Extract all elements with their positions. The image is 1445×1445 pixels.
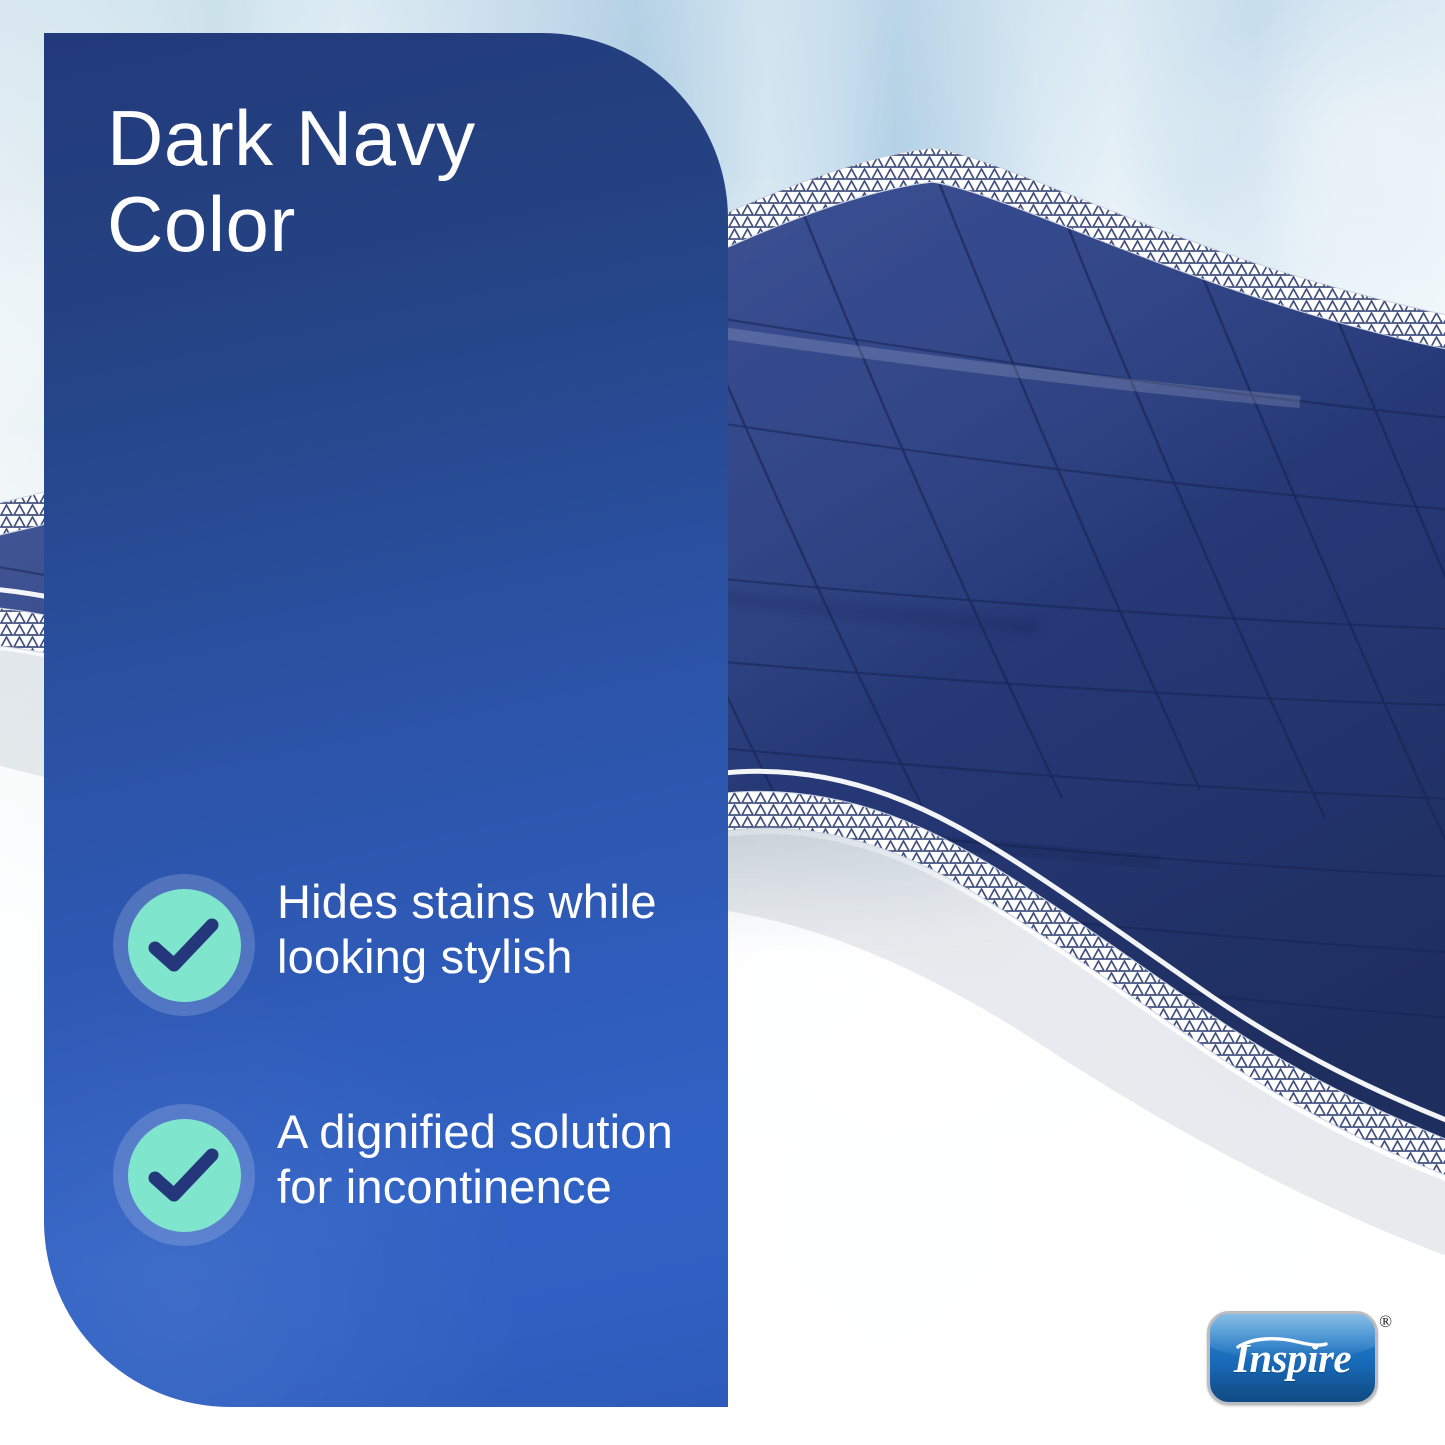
benefit-text: A dignified solution for incontinence xyxy=(277,1098,673,1215)
brand-logo: Inspire ® xyxy=(1207,1311,1392,1410)
registered-trademark-symbol: ® xyxy=(1379,1313,1392,1330)
logo-wordmark: Inspire xyxy=(1210,1334,1375,1382)
check-icon xyxy=(128,889,241,1002)
logo-plate: Inspire xyxy=(1207,1311,1378,1405)
product-marketing-image: Dark Navy Color Hides stains while looki… xyxy=(0,0,1445,1445)
benefits-list: Hides stains while looking stylish A dig… xyxy=(113,868,673,1246)
list-item: A dignified solution for incontinence xyxy=(113,1098,673,1246)
check-icon xyxy=(128,1119,241,1232)
page-title: Dark Navy Color xyxy=(107,96,667,268)
check-badge xyxy=(113,874,255,1016)
check-badge xyxy=(113,1104,255,1246)
list-item: Hides stains while looking stylish xyxy=(113,868,673,1016)
benefit-text: Hides stains while looking stylish xyxy=(277,868,673,985)
